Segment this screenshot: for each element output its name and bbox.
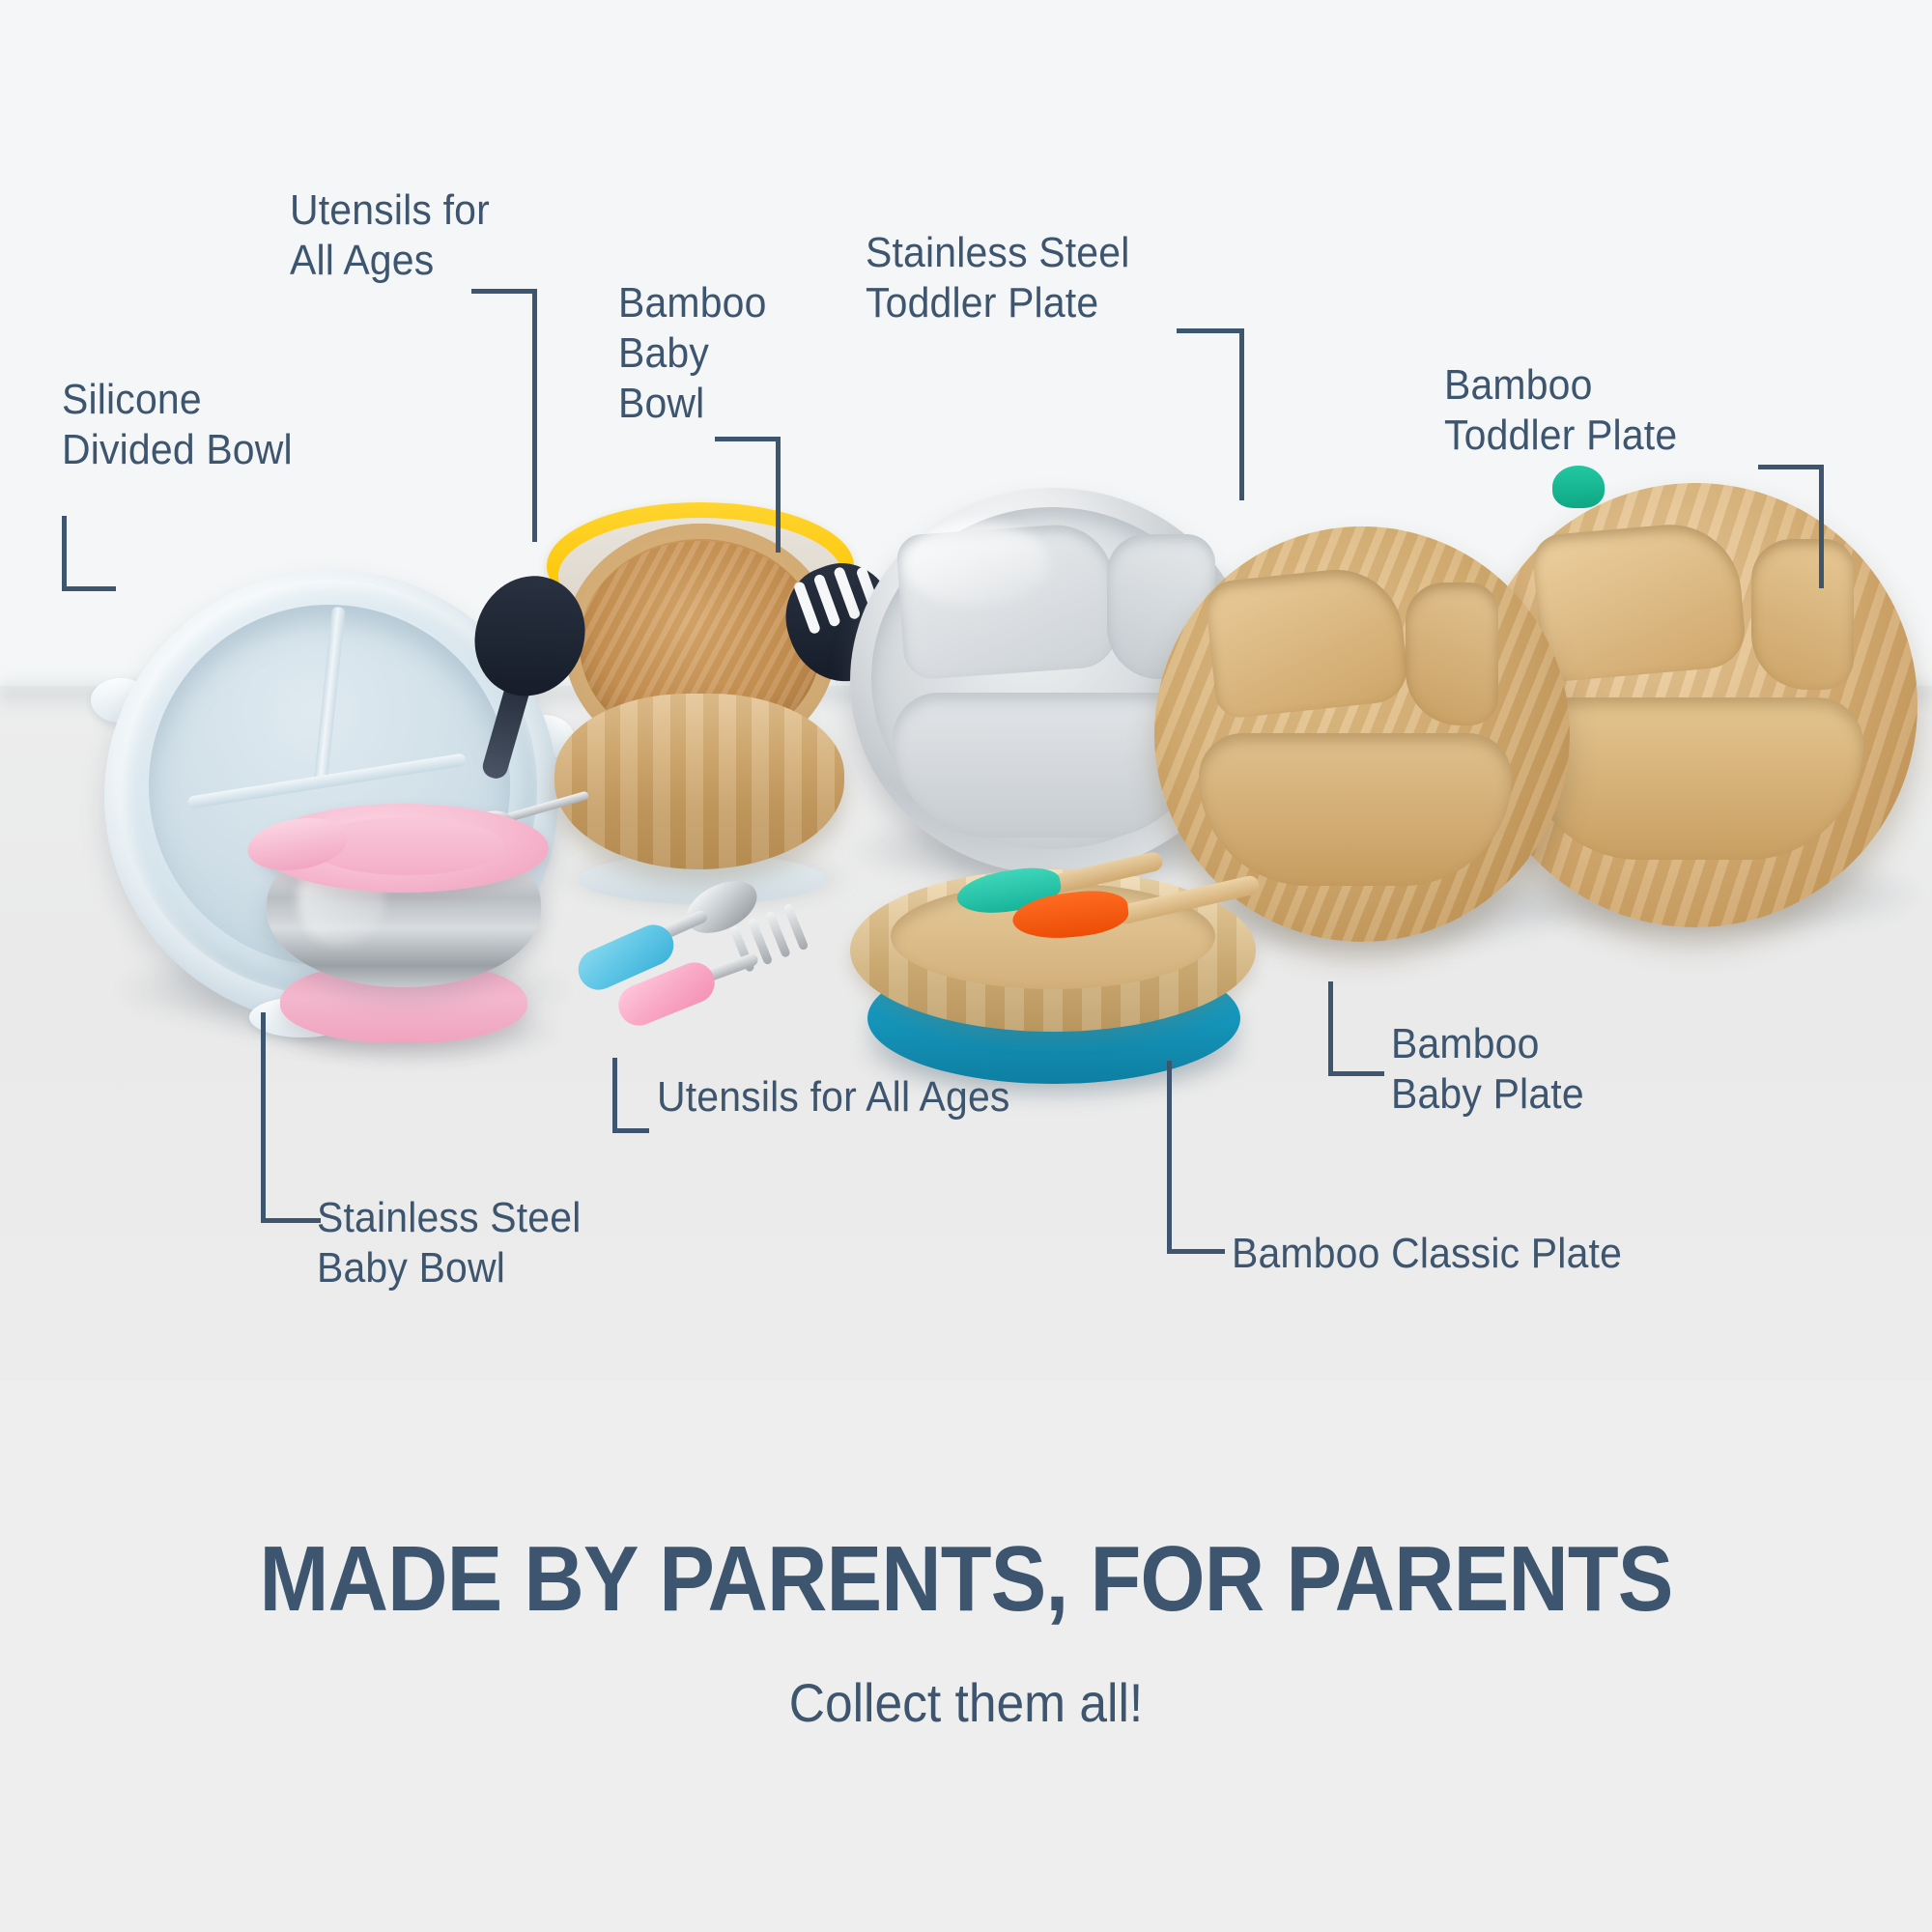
product-metal-utensils: [570, 879, 850, 1072]
callout-stainless-baby-bowl: Stainless Steel Baby Bowl: [317, 1193, 581, 1293]
leader-silicone-divided-bowl: [62, 516, 116, 591]
leader-utensils-all-ages-top: [471, 289, 537, 542]
callout-utensils-all-ages-top: Utensils for All Ages: [290, 185, 490, 286]
leader-stainless-toddler-plate: [1177, 328, 1244, 500]
bamboo-bowl-lower-grain: [554, 694, 844, 869]
leader-stainless-baby-bowl: [261, 1012, 321, 1223]
callout-stainless-toddler-plate: Stainless Steel Toddler Plate: [866, 228, 1129, 328]
callout-bamboo-baby-plate: Bamboo Baby Plate: [1391, 1019, 1584, 1120]
bamboo-baby-section-c: [1199, 733, 1512, 886]
green-silicone-tab: [1552, 466, 1605, 508]
leader-utensils-all-ages-bottom: [612, 1058, 649, 1133]
leader-bamboo-baby-bowl: [715, 437, 781, 553]
leader-bamboo-classic-plate: [1167, 1061, 1225, 1254]
bamboo-toddler-section-c: [1523, 697, 1863, 860]
footer-block: MADE BY PARENTS, FOR PARENTS Collect the…: [0, 1381, 1932, 1932]
infographic-canvas: Silicone Divided Bowl Utensils for All A…: [0, 0, 1932, 1932]
callout-bamboo-classic-plate: Bamboo Classic Plate: [1232, 1229, 1622, 1279]
steel-plate-sheen: [904, 521, 1049, 608]
footer-headline: MADE BY PARENTS, FOR PARENTS: [97, 1526, 1835, 1633]
product-photo: Silicone Divided Bowl Utensils for All A…: [0, 0, 1932, 1381]
callout-bamboo-toddler-plate: Bamboo Toddler Plate: [1444, 360, 1677, 461]
leader-bamboo-toddler-plate: [1758, 465, 1824, 588]
product-stainless-baby-bowl: [259, 782, 549, 1043]
callout-silicone-divided-bowl: Silicone Divided Bowl: [62, 375, 293, 475]
bamboo-baby-section-a: [1204, 563, 1410, 720]
footer-tagline: Collect them all!: [77, 1671, 1855, 1734]
bamboo-baby-section-b: [1406, 582, 1498, 725]
callout-bamboo-baby-bowl: Bamboo Baby Bowl: [618, 278, 767, 429]
leader-bamboo-baby-plate: [1328, 981, 1384, 1076]
callout-utensils-all-ages-bottom: Utensils for All Ages: [657, 1072, 1010, 1122]
